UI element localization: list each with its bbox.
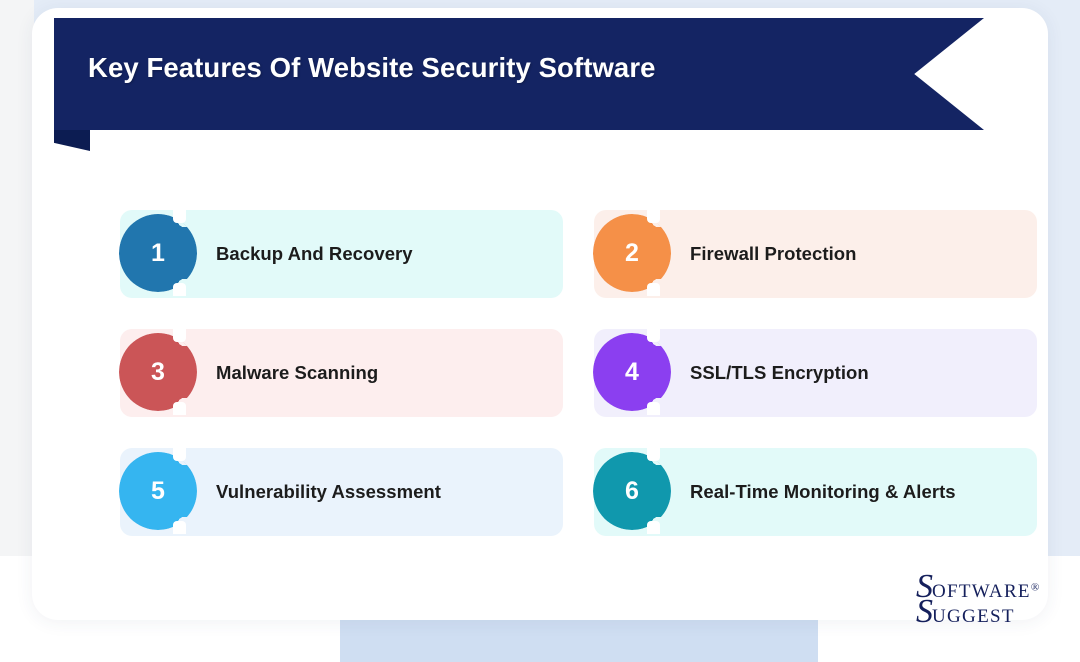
infographic-canvas: Key Features Of Website Security Softwar… bbox=[0, 0, 1080, 662]
feature-label-6: Real-Time Monitoring & Alerts bbox=[690, 481, 956, 503]
badge-notch-bottom-4 bbox=[647, 402, 660, 415]
badge-notch-bottom-6 bbox=[647, 521, 660, 534]
badge-notch-top-2 bbox=[647, 210, 660, 223]
logo-line2-rest: UGGEST bbox=[932, 606, 1015, 627]
ribbon-banner: Key Features Of Website Security Softwar… bbox=[54, 18, 984, 144]
badge-number-4: 4 bbox=[625, 360, 639, 385]
background-strip-left bbox=[0, 0, 34, 572]
badge-number-5: 5 bbox=[151, 479, 165, 504]
badge-notch-top-4 bbox=[647, 329, 660, 342]
feature-label-5: Vulnerability Assessment bbox=[216, 481, 441, 503]
badge-number-3: 3 bbox=[151, 360, 165, 385]
badge-notch-bottom-1 bbox=[173, 283, 186, 296]
feature-card-5[interactable]: 5 Vulnerability Assessment bbox=[120, 448, 563, 536]
feature-card-4[interactable]: 4 SSL/TLS Encryption bbox=[594, 329, 1037, 417]
badge-notch-bottom-3 bbox=[173, 402, 186, 415]
badge-notch-top-5 bbox=[173, 448, 186, 461]
feature-label-3: Malware Scanning bbox=[216, 362, 378, 384]
number-badge-5: 5 bbox=[119, 440, 197, 542]
feature-card-2[interactable]: 2 Firewall Protection bbox=[594, 210, 1037, 298]
page-title: Key Features Of Website Security Softwar… bbox=[88, 52, 656, 84]
feature-grid: 1 Backup And Recovery 2 Firewall Protect… bbox=[120, 210, 1040, 536]
feature-label-4: SSL/TLS Encryption bbox=[690, 362, 869, 384]
number-badge-6: 6 bbox=[593, 440, 671, 542]
number-badge-1: 1 bbox=[119, 202, 197, 304]
badge-number-6: 6 bbox=[625, 479, 639, 504]
feature-card-1[interactable]: 1 Backup And Recovery bbox=[120, 210, 563, 298]
feature-label-1: Backup And Recovery bbox=[216, 243, 413, 265]
content-sheet: Key Features Of Website Security Softwar… bbox=[32, 8, 1048, 620]
badge-notch-top-6 bbox=[647, 448, 660, 461]
feature-card-6[interactable]: 6 Real-Time Monitoring & Alerts bbox=[594, 448, 1037, 536]
registered-trademark-icon: ® bbox=[1031, 582, 1039, 594]
badge-number-2: 2 bbox=[625, 241, 639, 266]
number-badge-2: 2 bbox=[593, 202, 671, 304]
logo-line-2: SUGGEST bbox=[916, 595, 1066, 629]
feature-label-2: Firewall Protection bbox=[690, 243, 856, 265]
number-badge-3: 3 bbox=[119, 321, 197, 423]
badge-notch-bottom-2 bbox=[647, 283, 660, 296]
badge-notch-bottom-5 bbox=[173, 521, 186, 534]
feature-card-3[interactable]: 3 Malware Scanning bbox=[120, 329, 563, 417]
badge-notch-top-3 bbox=[173, 329, 186, 342]
softwaresuggest-logo: SOFTWARE® SUGGEST bbox=[916, 570, 1066, 624]
logo-line2-capital: S bbox=[916, 593, 932, 630]
number-badge-4: 4 bbox=[593, 321, 671, 423]
badge-notch-top-1 bbox=[173, 210, 186, 223]
badge-number-1: 1 bbox=[151, 241, 165, 266]
